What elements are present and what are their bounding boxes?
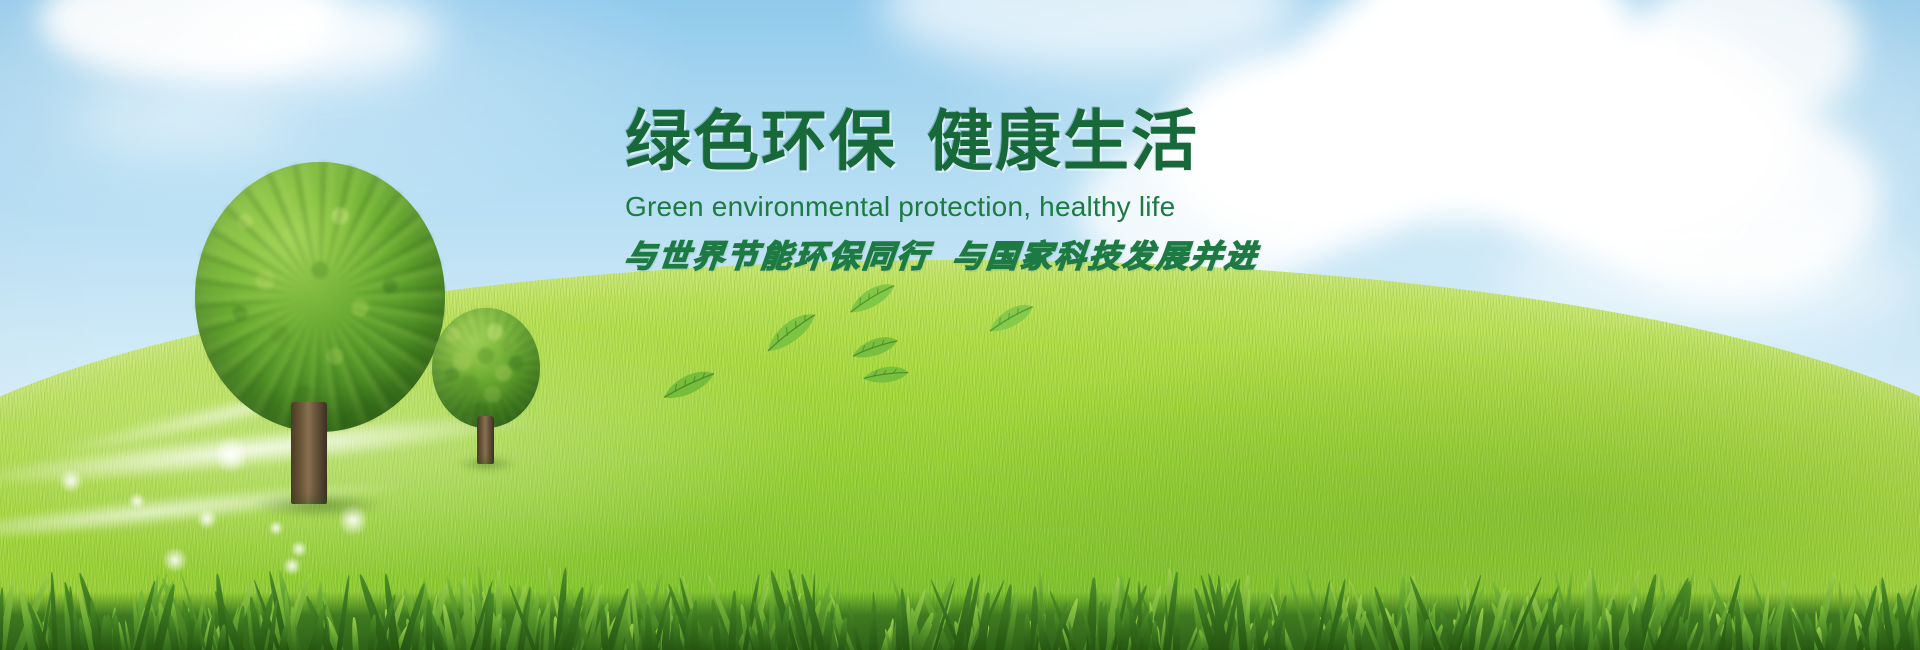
eco-hero-banner: 绿色环保健康生活 Green environmental protection,… <box>0 0 1920 650</box>
large-tree <box>195 162 445 462</box>
cloud-mid-left <box>70 90 290 150</box>
sparkle-3 <box>196 508 218 530</box>
subtitle-english: Green environmental protection, healthy … <box>625 191 1325 223</box>
headline: 绿色环保健康生活 <box>625 108 1325 177</box>
large-tree-ground-shadow <box>253 492 383 518</box>
floating-leaf-6 <box>861 362 910 387</box>
small-tree-crown-shading <box>432 308 540 428</box>
grass-seed-head <box>1574 609 1582 650</box>
tagline-calligraphy: 与世界节能环保同行与国家科技发展并进 <box>623 231 1328 276</box>
large-tree-trunk <box>291 402 327 504</box>
sparkle-9 <box>290 540 308 558</box>
sparkle-2 <box>128 492 146 510</box>
headline-part-2: 健康生活 <box>927 103 1199 180</box>
banner-text-block: 绿色环保健康生活 Green environmental protection,… <box>625 108 1325 276</box>
large-tree-crown-shading <box>195 162 445 432</box>
foreground-grass <box>0 560 1920 650</box>
sparkle-4 <box>268 520 284 536</box>
small-tree <box>432 308 540 458</box>
sparkle-1 <box>58 468 84 494</box>
small-tree-ground-shadow <box>457 456 517 472</box>
headline-part-1: 绿色环保 <box>625 103 897 180</box>
tagline-part-2: 与国家科技发展并进 <box>951 239 1261 275</box>
tagline-part-1: 与世界节能环保同行 <box>623 239 933 275</box>
